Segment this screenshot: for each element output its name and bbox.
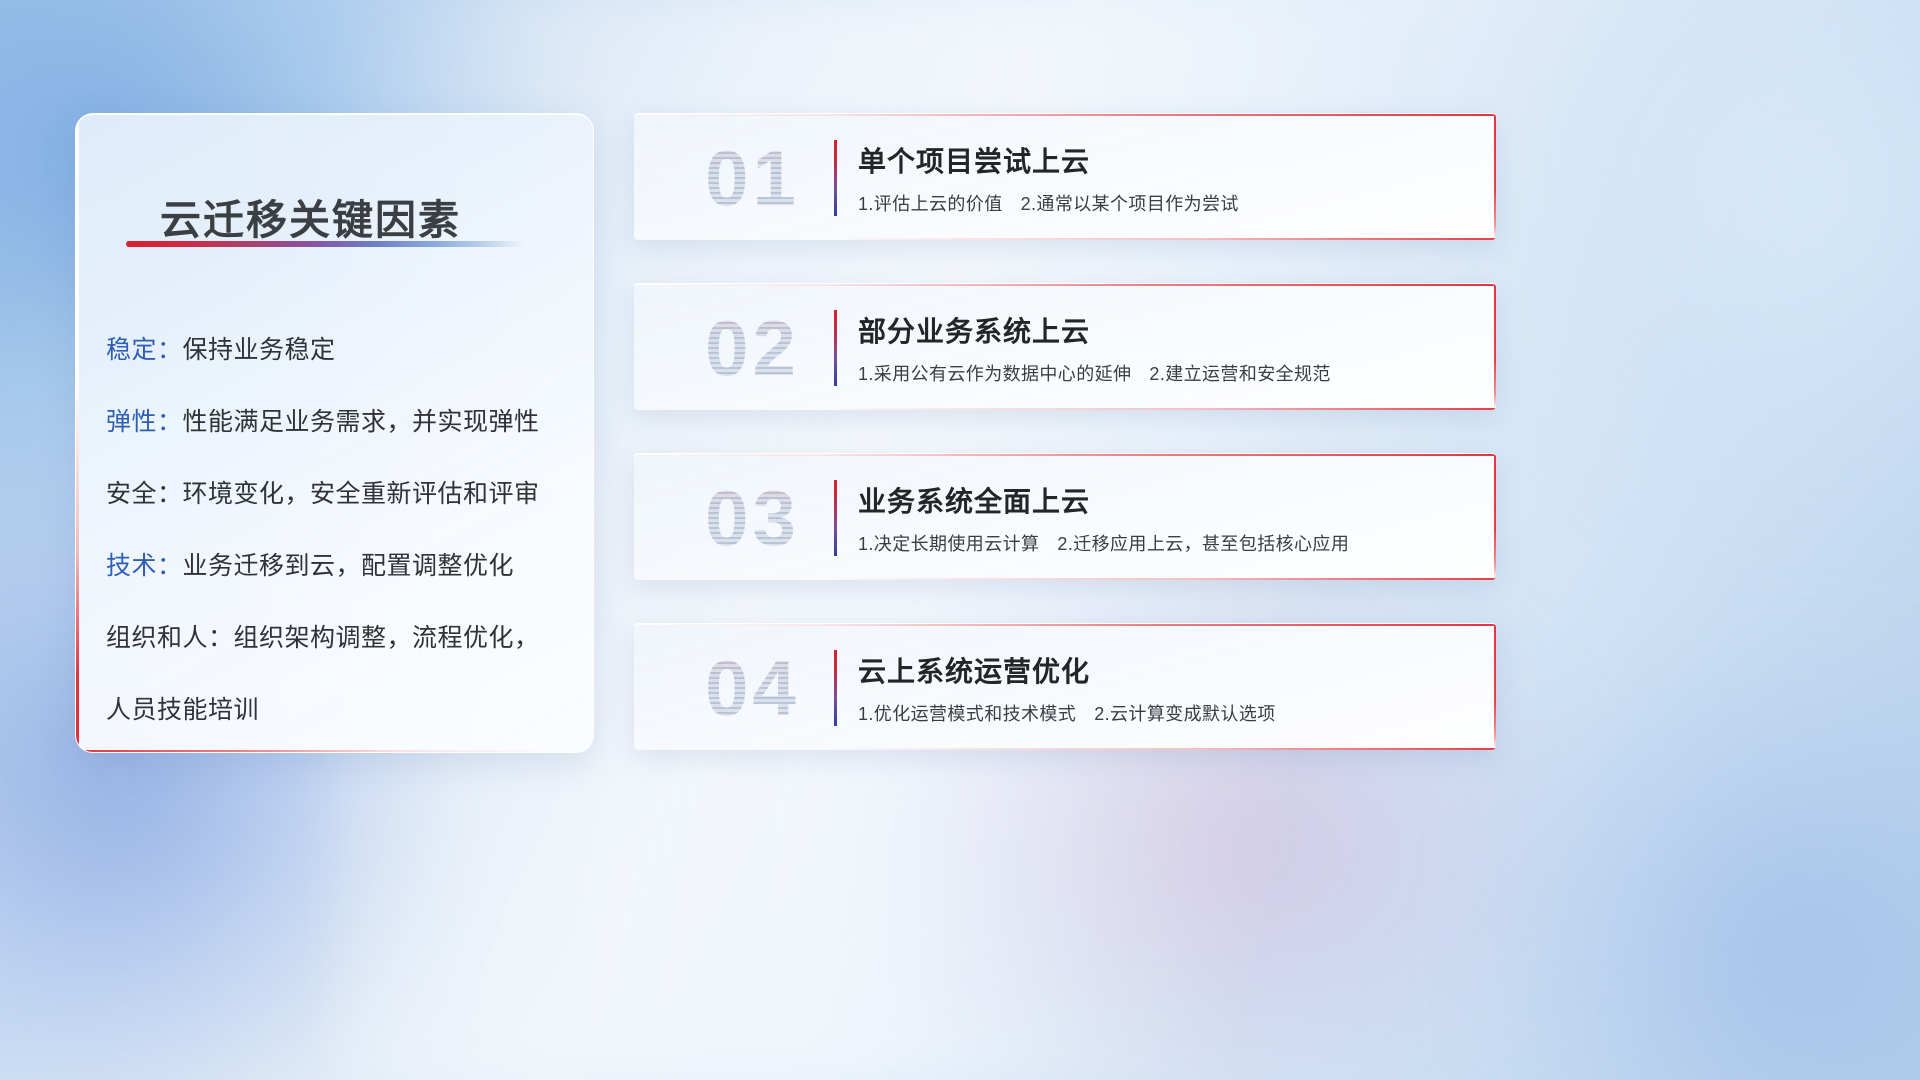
step-card-right-accent (1494, 284, 1496, 410)
key-factor-row: 组织和人：组织架构调整，流程优化， (106, 602, 573, 674)
step-point-1: 1.决定长期使用云计算 (858, 534, 1039, 554)
key-factor-text: 环境变化，安全重新评估和评审 (183, 480, 540, 508)
page-title: 云迁移关键因素 (160, 186, 461, 246)
step-card-right-accent (1494, 454, 1496, 580)
step-point-2: 2.建立运营和安全规范 (1149, 364, 1330, 384)
step-card-right-accent (1494, 114, 1496, 240)
key-factor-text: 业务迁移到云，配置调整优化 (183, 552, 515, 580)
key-factor-label: 稳定： (106, 336, 183, 364)
step-card-bottom-accent (824, 748, 1496, 750)
step-divider (834, 310, 837, 386)
step-card-right-accent (1494, 624, 1496, 750)
key-factor-text: 性能满足业务需求，并实现弹性 (183, 408, 540, 436)
step-card[interactable]: 03业务系统全面上云1.决定长期使用云计算2.迁移应用上云，甚至包括核心应用 (634, 453, 1496, 580)
step-card-top-accent (634, 454, 1496, 456)
step-card[interactable]: 02部分业务系统上云1.采用公有云作为数据中心的延伸2.建立运营和安全规范 (634, 283, 1496, 410)
step-card-top-accent (634, 624, 1496, 626)
step-card[interactable]: 01单个项目尝试上云1.评估上云的价值2.通常以某个项目作为尝试 (634, 113, 1496, 240)
step-description: 1.决定长期使用云计算2.迁移应用上云，甚至包括核心应用 (858, 530, 1349, 556)
step-title: 业务系统全面上云 (858, 480, 1090, 520)
step-divider (834, 140, 837, 216)
panel-bottom-accent-bar (76, 750, 593, 752)
key-factor-row: 稳定：保持业务稳定 (106, 314, 573, 386)
key-factor-label: 安全： (106, 480, 183, 508)
step-point-1: 1.采用公有云作为数据中心的延伸 (858, 364, 1131, 384)
step-number: 02 (665, 302, 840, 394)
background-bloom-top-right (1500, 0, 1920, 540)
key-factor-label: 组织和人： (106, 624, 234, 652)
key-factor-row: 安全：环境变化，安全重新评估和评审 (106, 458, 573, 530)
step-description: 1.评估上云的价值2.通常以某个项目作为尝试 (858, 190, 1239, 216)
key-factor-text: 组织架构调整，流程优化， (234, 624, 540, 652)
step-point-1: 1.评估上云的价值 (858, 194, 1003, 214)
step-title: 单个项目尝试上云 (858, 140, 1090, 180)
step-card-bottom-accent (824, 238, 1496, 240)
step-divider (834, 480, 837, 556)
key-factor-label: 弹性： (106, 408, 183, 436)
step-title: 云上系统运营优化 (858, 650, 1090, 690)
background-bloom-bottom-right (1480, 640, 1920, 1080)
step-number: 03 (665, 472, 840, 564)
key-factors-panel: 云迁移关键因素 稳定：保持业务稳定弹性：性能满足业务需求，并实现弹性安全：环境变… (75, 113, 594, 753)
step-card-top-accent (634, 284, 1496, 286)
step-point-1: 1.优化运营模式和技术模式 (858, 704, 1076, 724)
step-title: 部分业务系统上云 (858, 310, 1090, 350)
key-factors-list: 稳定：保持业务稳定弹性：性能满足业务需求，并实现弹性安全：环境变化，安全重新评估… (106, 314, 573, 746)
step-number: 01 (665, 132, 840, 224)
panel-left-accent-bar (76, 114, 79, 752)
key-factor-row: 弹性：性能满足业务需求，并实现弹性 (106, 386, 573, 458)
key-factor-text: 人员技能培训 (106, 696, 259, 724)
step-card-bottom-accent (824, 578, 1496, 580)
step-description: 1.优化运营模式和技术模式2.云计算变成默认选项 (858, 700, 1276, 726)
key-factor-row: 技术：业务迁移到云，配置调整优化 (106, 530, 573, 602)
step-number: 04 (665, 642, 840, 734)
step-point-2: 2.云计算变成默认选项 (1094, 704, 1275, 724)
step-divider (834, 650, 837, 726)
step-card-bottom-accent (824, 408, 1496, 410)
step-point-2: 2.迁移应用上云，甚至包括核心应用 (1057, 534, 1349, 554)
step-card[interactable]: 04云上系统运营优化1.优化运营模式和技术模式2.云计算变成默认选项 (634, 623, 1496, 750)
key-factor-label: 技术： (106, 552, 183, 580)
key-factor-row: 人员技能培训 (106, 674, 573, 746)
title-underline-gradient (126, 241, 524, 247)
key-factor-text: 保持业务稳定 (183, 336, 336, 364)
step-point-2: 2.通常以某个项目作为尝试 (1021, 194, 1239, 214)
step-description: 1.采用公有云作为数据中心的延伸2.建立运营和安全规范 (858, 360, 1331, 386)
step-card-top-accent (634, 114, 1496, 116)
